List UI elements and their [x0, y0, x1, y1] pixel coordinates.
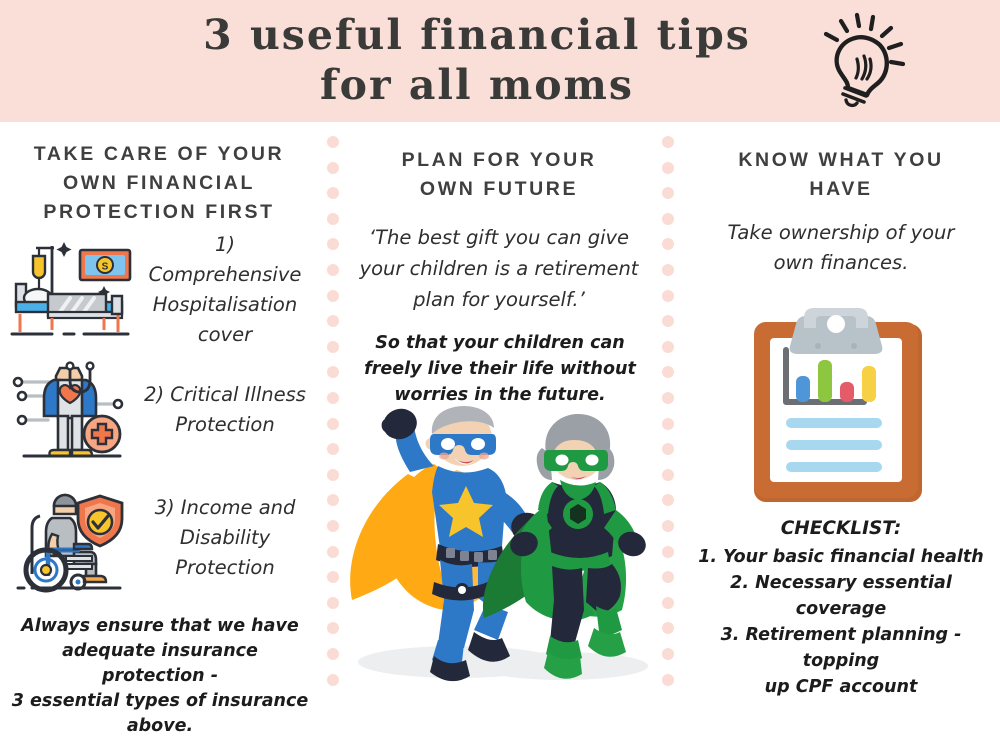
- divider-dot: [662, 571, 674, 583]
- clipboard-bar-chart-icon: [740, 308, 936, 508]
- divider-dot: [662, 162, 674, 174]
- tip-label-3: 3) Income and Disability Protection: [136, 493, 318, 583]
- divider-dot: [662, 238, 674, 250]
- divider-dot: [662, 469, 674, 481]
- divider-dot: [327, 136, 339, 148]
- divider-dot: [662, 213, 674, 225]
- checklist-item: 2. Necessary essential coverage: [684, 570, 998, 622]
- column-heading-right: KNOW WHAT YOU HAVE: [682, 146, 1000, 204]
- quote-text: ‘The best gift you can give your childre…: [352, 222, 646, 315]
- divider-dot: [327, 213, 339, 225]
- divider-dot: [662, 622, 674, 634]
- divider-dot: [662, 494, 674, 506]
- tip-item-1: S: [8, 230, 318, 350]
- column-take-care: TAKE CARE OF YOUR OWN FINANCIAL PROTECTI…: [0, 122, 318, 700]
- divider-dot: [327, 264, 339, 276]
- column-plan-future: PLAN FOR YOUR OWN FUTURE ‘The best gift …: [340, 122, 658, 700]
- tip-item-2: 2) Critical Illness Protection: [8, 354, 318, 466]
- divider-dot: [327, 392, 339, 404]
- subquote-text: So that your children can freely live th…: [362, 330, 638, 408]
- divider-dot: [662, 674, 674, 686]
- svg-text:S: S: [102, 262, 109, 273]
- patient-stethoscope-medical-cross-icon: [8, 354, 136, 466]
- divider-dot: [662, 315, 674, 327]
- divider-dot: [662, 341, 674, 353]
- divider-dot: [327, 238, 339, 250]
- divider-dot: [662, 187, 674, 199]
- divider-dot: [327, 315, 339, 327]
- column-heading-middle: PLAN FOR YOUR OWN FUTURE: [340, 146, 658, 204]
- tip-label-2: 2) Critical Illness Protection: [136, 380, 318, 440]
- divider-dot: [662, 597, 674, 609]
- checklist-title: CHECKLIST:: [692, 516, 990, 542]
- hospital-bed-money-icon: S: [8, 234, 136, 346]
- lightbulb-icon: [815, 12, 907, 108]
- divider-dot: [662, 392, 674, 404]
- column-know-what-you-have: KNOW WHAT YOU HAVE Take ownership of you…: [682, 122, 1000, 700]
- divider-dot: [662, 546, 674, 558]
- header-banner: 3 useful financial tips for all moms: [0, 0, 1000, 122]
- divider-dot: [662, 520, 674, 532]
- hero-female: [483, 414, 649, 679]
- divider-dot: [327, 366, 339, 378]
- column-heading-left: TAKE CARE OF YOUR OWN FINANCIAL PROTECTI…: [0, 140, 318, 227]
- checklist-item: 3. Retirement planning - topping up CPF …: [684, 622, 998, 700]
- infographic-canvas: 3 useful financial tips for all moms TAK…: [0, 0, 1000, 700]
- divider-dot: [662, 443, 674, 455]
- divider-dot: [327, 290, 339, 302]
- divider-dot: [662, 418, 674, 430]
- right-column-subtitle: Take ownership of your own finances.: [700, 218, 982, 278]
- divider-dot: [327, 162, 339, 174]
- divider-dot: [662, 136, 674, 148]
- dot-divider-right: [661, 122, 675, 700]
- divider-dot: [662, 290, 674, 302]
- tip-item-3: 3) Income and Disability Protection: [8, 482, 318, 594]
- divider-dot: [327, 341, 339, 353]
- tip-label-1: 1) Comprehensive Hospitalisation cover: [136, 230, 318, 350]
- left-column-footer: Always ensure that we have adequate insu…: [10, 614, 310, 739]
- divider-dot: [662, 648, 674, 660]
- senior-superheroes-illustration: [338, 404, 660, 700]
- checklist-item: 1. Your basic financial health: [684, 544, 998, 570]
- divider-dot: [662, 264, 674, 276]
- divider-dot: [662, 366, 674, 378]
- wheelchair-shield-check-icon: [8, 482, 136, 594]
- divider-dot: [327, 187, 339, 199]
- checklist-items: 1. Your basic financial health2. Necessa…: [684, 544, 998, 700]
